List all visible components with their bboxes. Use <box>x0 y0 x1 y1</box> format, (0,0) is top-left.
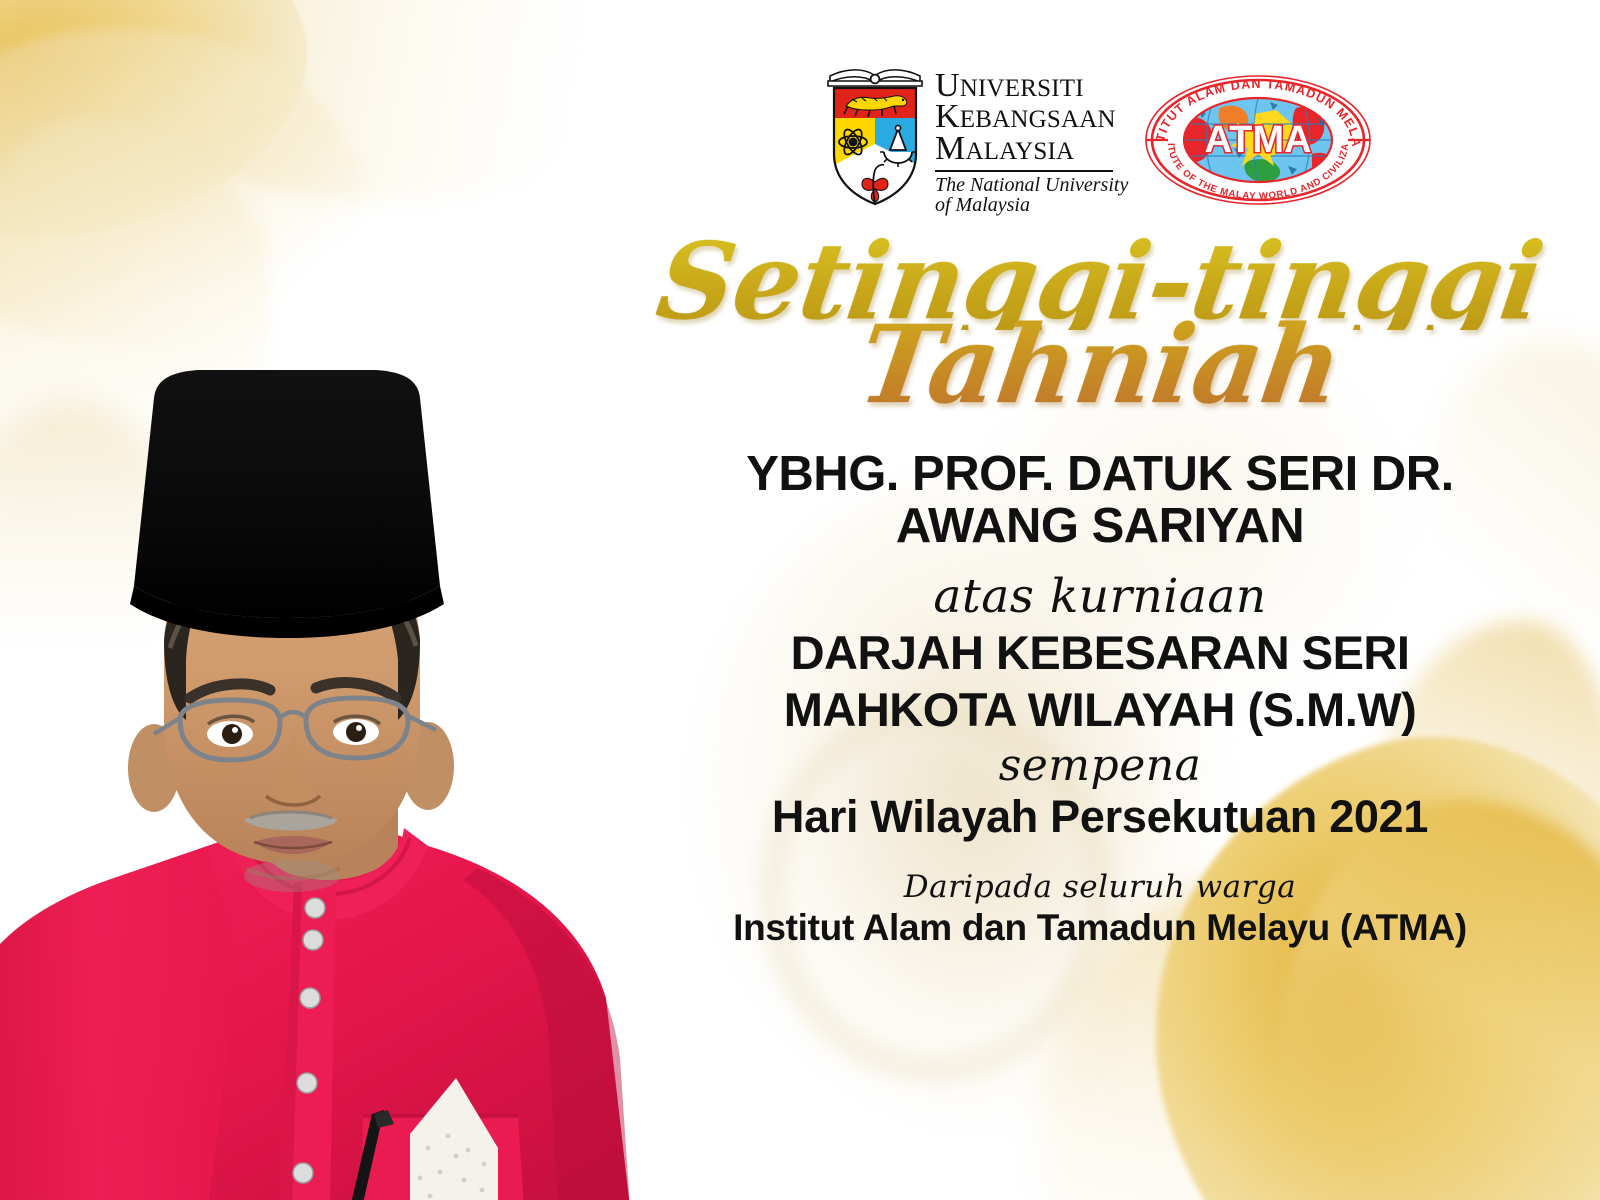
ukm-logo: UNIVERSITI KEBANGSAAN MALAYSIA The Natio… <box>824 58 1128 216</box>
card-copy: Setinggi-tinggi Tahniah YBHG. PROF. DATU… <box>600 232 1600 949</box>
gold-wash-top <box>120 0 640 200</box>
logo-row: UNIVERSITI KEBANGSAAN MALAYSIA The Natio… <box>824 58 1374 216</box>
ukm-u-rest: NIVERSITI <box>960 75 1084 102</box>
signoff-organisation: Institut Alam dan Tamadun Melayu (ATMA) <box>600 908 1600 949</box>
ukm-wordmark: UNIVERSITI KEBANGSAAN MALAYSIA The Natio… <box>935 58 1128 216</box>
atma-logo: INSTITUT ALAM DAN TAMADUN MELAYU INSTITU… <box>1142 74 1374 206</box>
connector-atas-kurniaan: atas kurniaan <box>600 571 1600 623</box>
award-line-1: DARJAH KEBESARAN SERI <box>600 628 1600 679</box>
ukm-word-universiti: UNIVERSITI <box>935 70 1128 101</box>
book-icon <box>828 70 922 86</box>
ukm-word-kebangsaan: KEBANGSAAN <box>935 101 1128 132</box>
honoree-name-line: AWANG SARIYAN <box>600 501 1600 553</box>
ukm-tagline-line1: The National University <box>935 175 1128 195</box>
connector-sempena: sempena <box>600 742 1600 790</box>
ukm-shield-icon <box>824 58 926 208</box>
songkok <box>134 370 440 618</box>
greeting-card: UNIVERSITI KEBANGSAAN MALAYSIA The Natio… <box>0 0 1600 1200</box>
ukm-m-rest: ALAYSIA <box>965 138 1074 165</box>
ukm-divider <box>935 170 1113 172</box>
atma-acronym: ATMA <box>1205 119 1312 161</box>
honoree-title-line: YBHG. PROF. DATUK SERI DR. <box>600 449 1600 501</box>
award-line-2: MAHKOTA WILAYAH (S.M.W) <box>600 685 1600 736</box>
honoree-name: YBHG. PROF. DATUK SERI DR. AWANG SARIYAN <box>600 449 1600 553</box>
ukm-tagline-line2: of Malaysia <box>935 195 1128 215</box>
ukm-m-cap: M <box>935 130 965 167</box>
event-name: Hari Wilayah Persekutuan 2021 <box>600 792 1600 842</box>
headline-tahniah: Tahniah <box>593 316 1600 415</box>
ukm-k-rest: EBANGSAAN <box>960 106 1116 133</box>
gold-wash-top-left-1 <box>0 0 336 271</box>
ukm-word-malaysia: MALAYSIA <box>935 133 1128 164</box>
signoff-line-1: Daripada seluruh warga <box>600 870 1600 904</box>
